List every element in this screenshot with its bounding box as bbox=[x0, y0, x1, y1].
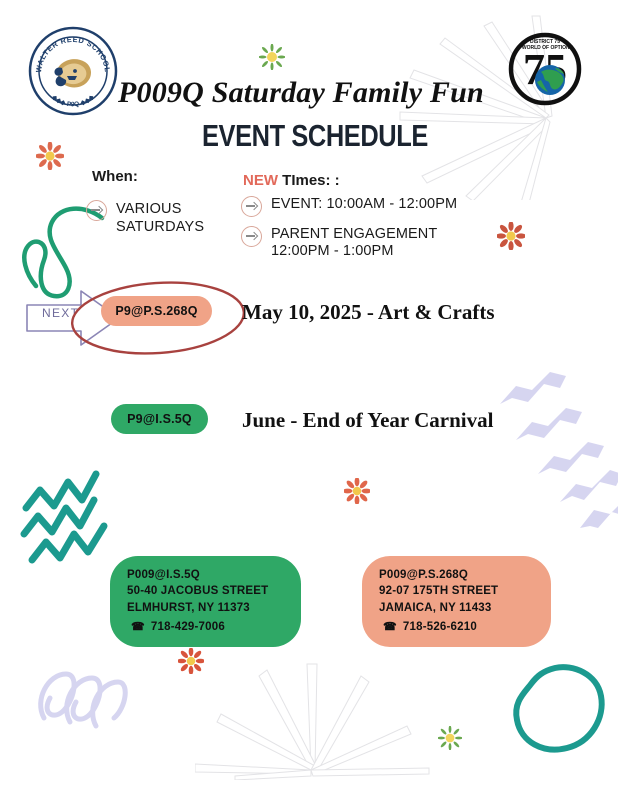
arrow-circle-icon bbox=[241, 196, 262, 217]
address-city: ELMHURST, NY 11373 bbox=[127, 600, 287, 616]
time-row-event: EVENT: 10:00AM - 12:00PM bbox=[241, 196, 457, 217]
lavender-dashes-doodle bbox=[498, 352, 618, 532]
when-label: When: bbox=[92, 168, 138, 185]
times-label-rest: TImes: : bbox=[278, 172, 340, 189]
phone-icon: ☎ bbox=[131, 622, 145, 633]
event-title-may: May 10, 2025 - Art & Crafts bbox=[242, 300, 495, 325]
flower-icon-upper-left bbox=[36, 142, 64, 170]
address-phone: 718-429-7006 bbox=[151, 619, 225, 635]
when-value-line1: VARIOUS bbox=[116, 201, 204, 219]
site-pill-ps268q[interactable]: P9@P.S.268Q bbox=[101, 296, 212, 326]
time-parent-line1: PARENT ENGAGEMENT bbox=[271, 226, 437, 243]
flower-icon-mid-right bbox=[497, 222, 525, 250]
address-card-ps268q: P009@P.S.268Q 92-07 175TH STREET JAMAICA… bbox=[362, 556, 551, 647]
address-street: 92-07 175TH STREET bbox=[379, 583, 537, 599]
time-parent-text: PARENT ENGAGEMENT 12:00PM - 1:00PM bbox=[271, 226, 437, 261]
arrow-circle-icon bbox=[86, 200, 107, 221]
teal-blob-doodle bbox=[505, 658, 610, 758]
address-site-name: P009@P.S.268Q bbox=[379, 567, 537, 583]
page-title: P009Q Saturday Family Fun bbox=[118, 76, 518, 110]
when-row: VARIOUS SATURDAYS bbox=[86, 200, 204, 236]
address-city: JAMAICA, NY 11433 bbox=[379, 600, 537, 616]
times-label: NEW TImes: : bbox=[243, 172, 340, 189]
times-label-new: NEW bbox=[243, 172, 278, 189]
site-pill-is5q[interactable]: P9@I.S.5Q bbox=[111, 404, 208, 434]
time-row-parent-engagement: PARENT ENGAGEMENT 12:00PM - 1:00PM bbox=[241, 226, 437, 261]
address-phone-row[interactable]: ☎ 718-429-7006 bbox=[127, 619, 287, 635]
time-parent-line2: 12:00PM - 1:00PM bbox=[271, 243, 437, 260]
phone-icon: ☎ bbox=[383, 622, 397, 633]
daisy-flower-icon bbox=[259, 44, 285, 70]
flower-icon-center bbox=[344, 478, 370, 504]
address-phone: 718-526-6210 bbox=[403, 619, 477, 635]
starburst-rays-bottom bbox=[195, 640, 445, 780]
address-phone-row[interactable]: ☎ 718-526-6210 bbox=[379, 619, 537, 635]
when-value-line2: SATURDAYS bbox=[116, 219, 204, 237]
time-event-line1: EVENT: 10:00AM - 12:00PM bbox=[271, 196, 457, 213]
next-callout-label: NEXT bbox=[42, 306, 79, 320]
address-card-is5q: P009@I.S.5Q 50-40 JACOBUS STREET ELMHURS… bbox=[110, 556, 301, 647]
page-subtitle: EVENT SCHEDULE bbox=[202, 118, 428, 154]
walter-reed-school-logo: WALTER REED SCHOOL ◆◆◆ P9Q ◆◆◆ bbox=[28, 26, 118, 116]
flyer-page: WALTER REED SCHOOL ◆◆◆ P9Q ◆◆◆ DISTRICT … bbox=[0, 0, 618, 800]
address-street: 50-40 JACOBUS STREET bbox=[127, 583, 287, 599]
lavender-scribble-doodle bbox=[26, 660, 136, 740]
address-site-name: P009@I.S.5Q bbox=[127, 567, 287, 583]
arrow-circle-icon bbox=[241, 226, 262, 247]
when-value: VARIOUS SATURDAYS bbox=[116, 201, 204, 236]
event-title-june: June - End of Year Carnival bbox=[242, 408, 493, 433]
flower-icon-bottom-left bbox=[178, 648, 204, 674]
teal-zigzag-doodle bbox=[18, 448, 128, 568]
daisy-icon-bottom-right bbox=[438, 726, 462, 750]
time-event-text: EVENT: 10:00AM - 12:00PM bbox=[271, 196, 457, 213]
